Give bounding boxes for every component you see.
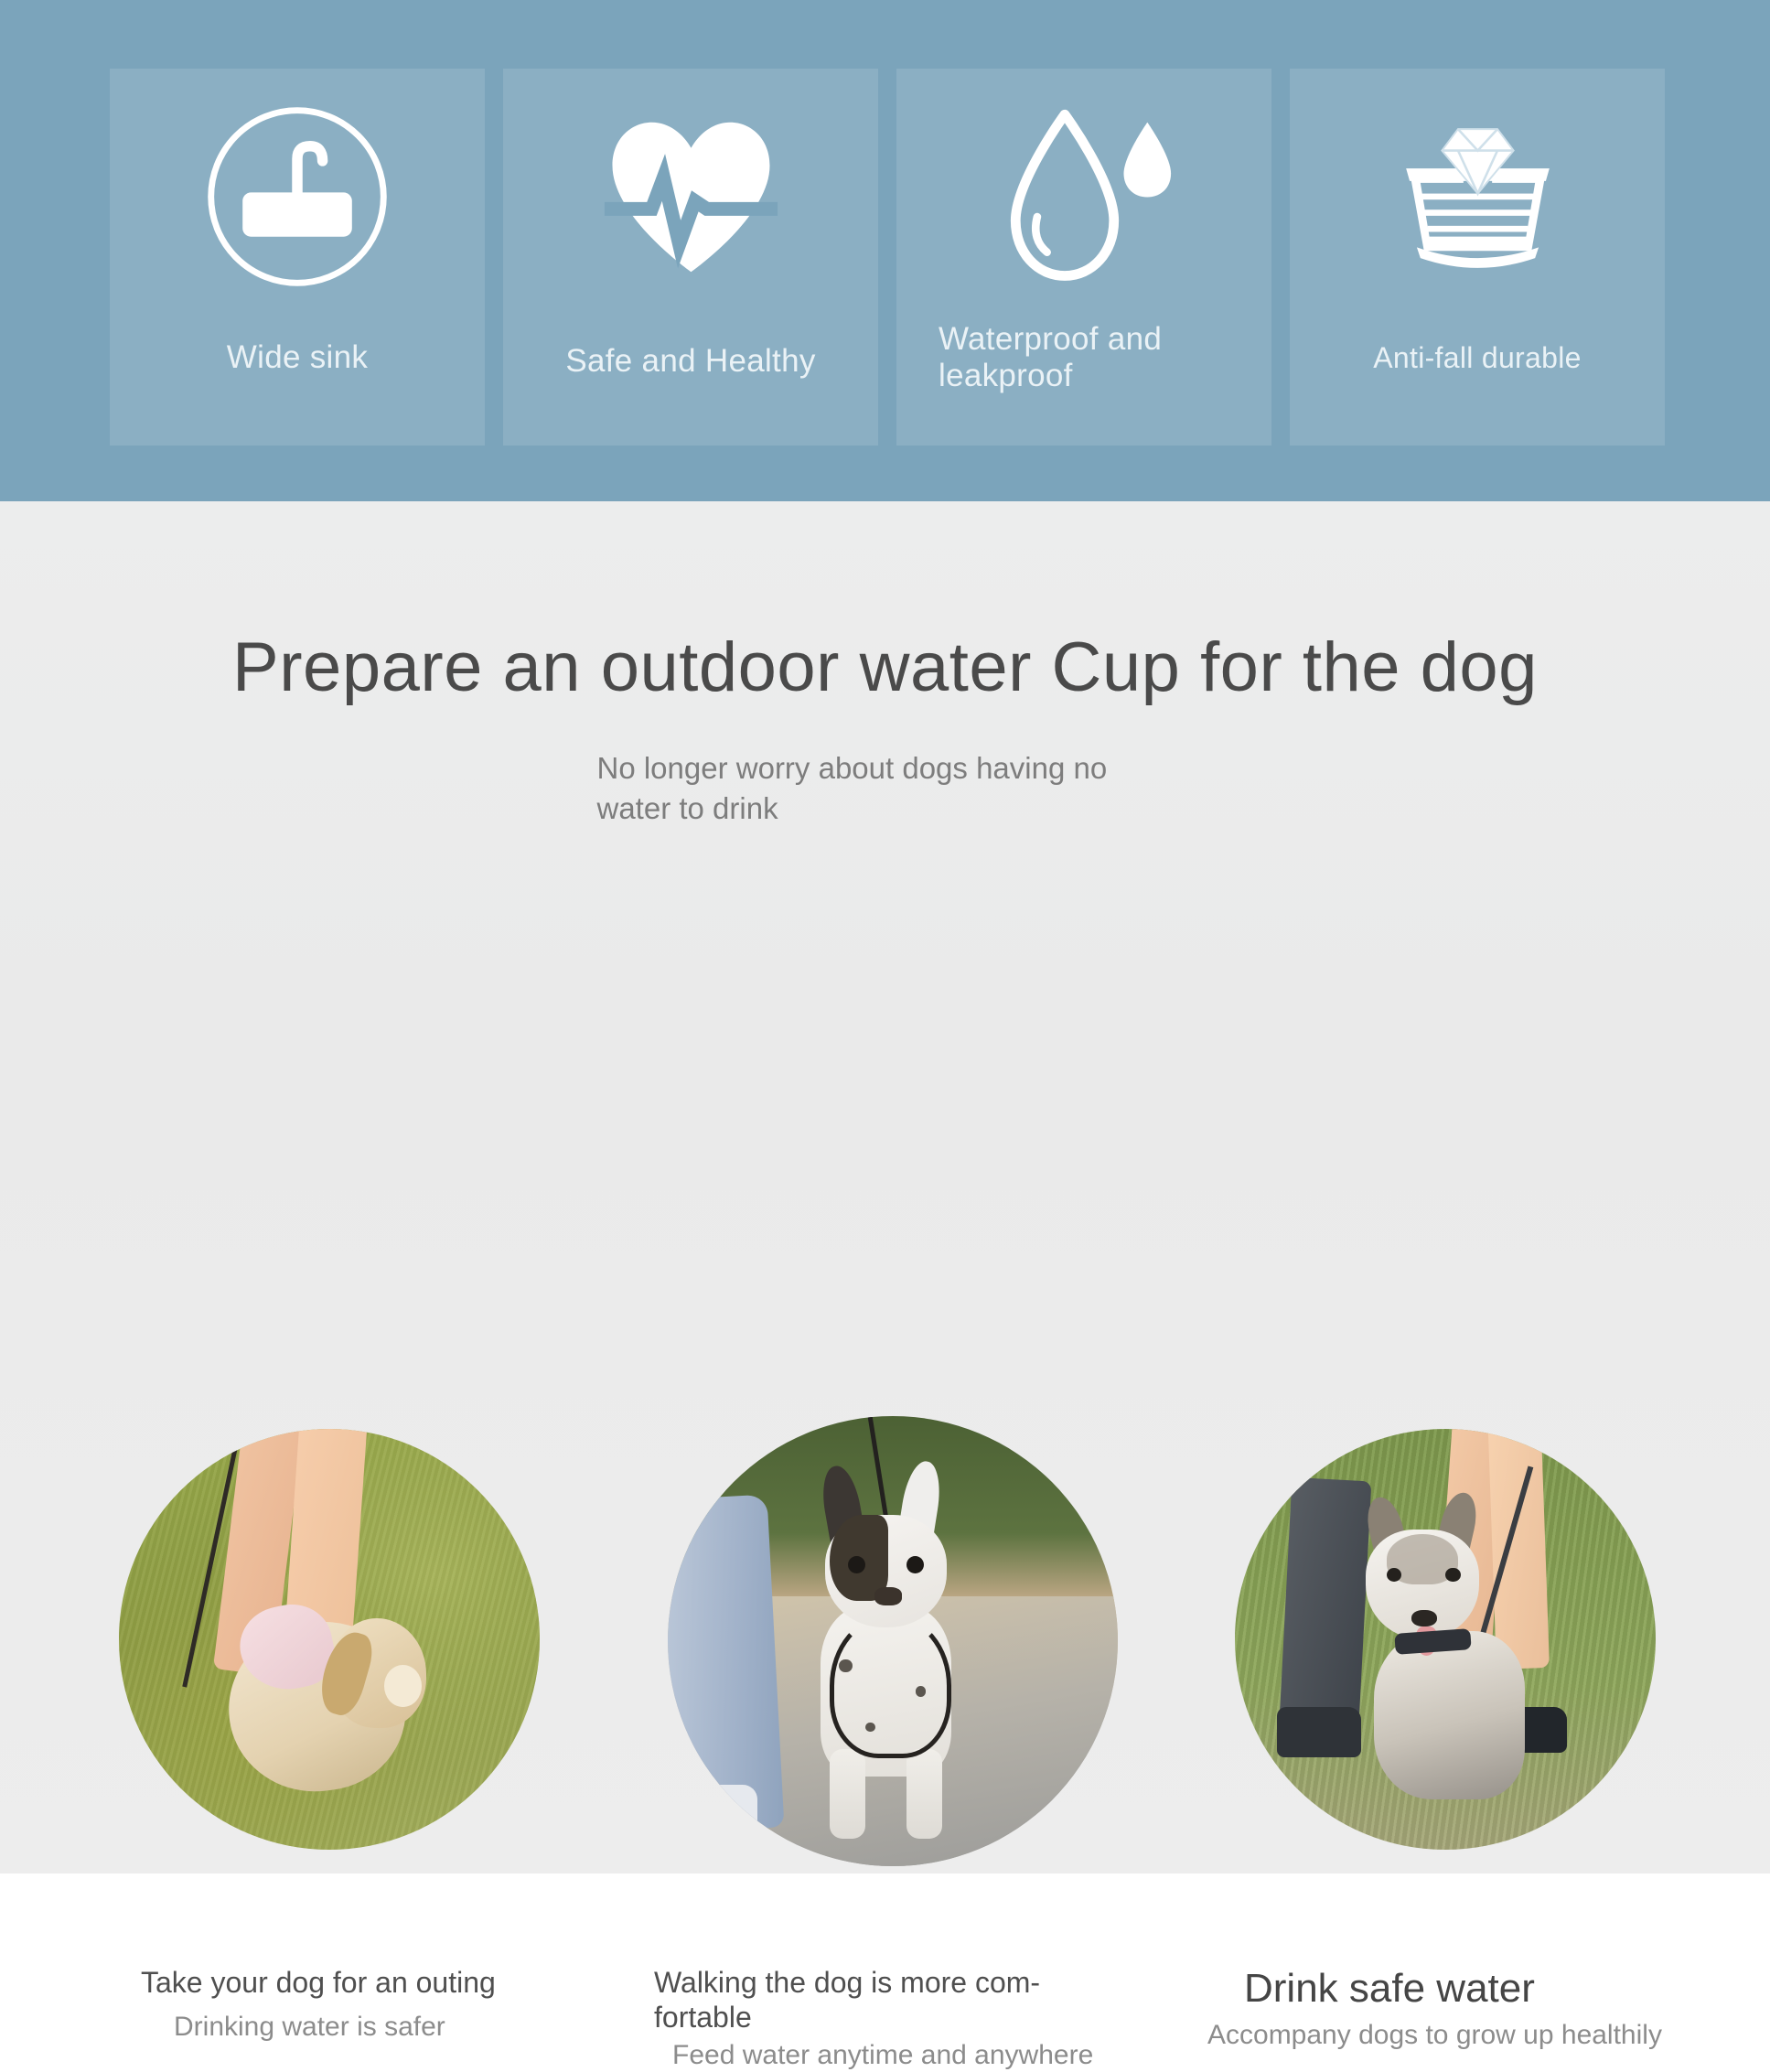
main-section: Prepare an outdoor water Cup for the dog…	[0, 501, 1770, 1873]
caption-title: Drink safe water	[1244, 1965, 1665, 2013]
feature-card-safe-and-healthy[interactable]: Safe and Healthy	[503, 69, 878, 446]
feature-card-label: Waterproof and leakproof	[896, 321, 1271, 395]
sink-basin-faucet-circle-icon	[192, 92, 402, 301]
caption-subtitle: Feed water anytime and anywhere	[672, 2039, 1111, 2072]
feature-card-waterproof-leakproof[interactable]: Waterproof and leakproof	[896, 69, 1271, 446]
feature-card-anti-fall-durable[interactable]: Anti-fall durable	[1290, 69, 1665, 446]
diamond-bowl-icon	[1370, 92, 1585, 301]
gallery-caption: Walking the dog is more com-fortable Fee…	[654, 1965, 1111, 2072]
gallery-item	[668, 1429, 1107, 1866]
caption-subtitle: Drinking water is safer	[174, 2011, 549, 2044]
gallery-item	[110, 1429, 549, 1866]
page-title: Prepare an outdoor water Cup for the dog	[0, 631, 1770, 704]
feature-card-list: Wide sink Safe and Healthy Waterproof	[110, 69, 1665, 446]
feature-band: Wide sink Safe and Healthy Waterproof	[0, 0, 1770, 501]
headline-block: Prepare an outdoor water Cup for the dog…	[0, 501, 1770, 830]
gallery-caption-row: Take your dog for an outing Drinking wat…	[110, 1965, 1665, 2072]
feature-card-label: Wide sink	[218, 339, 377, 376]
gallery-item	[1226, 1429, 1665, 1866]
husky-sitting-on-grass-with-owner-photo	[1235, 1429, 1656, 1850]
caption-title: Walking the dog is more com-fortable	[654, 1965, 1111, 2035]
heart-heartbeat-icon	[593, 92, 789, 301]
french-bulldog-on-leash-on-path-photo	[668, 1416, 1118, 1866]
page-subtitle: No longer worry about dogs having no wat…	[588, 748, 1183, 830]
caption-title: Take your dog for an outing	[141, 1965, 549, 2000]
small-dog-on-leash-walking-on-grass-photo	[119, 1429, 540, 1850]
gallery-caption: Take your dog for an outing Drinking wat…	[110, 1965, 549, 2072]
water-drop-icon	[986, 92, 1183, 301]
feature-card-wide-sink[interactable]: Wide sink	[110, 69, 485, 446]
feature-card-label: Safe and Healthy	[556, 343, 824, 380]
feature-card-label: Anti-fall durable	[1364, 341, 1590, 375]
gallery-photo-row	[110, 1429, 1665, 1866]
gallery-caption: Drink safe water Accompany dogs to grow …	[1207, 1965, 1665, 2072]
caption-subtitle: Accompany dogs to grow up healthily	[1207, 2019, 1665, 2052]
